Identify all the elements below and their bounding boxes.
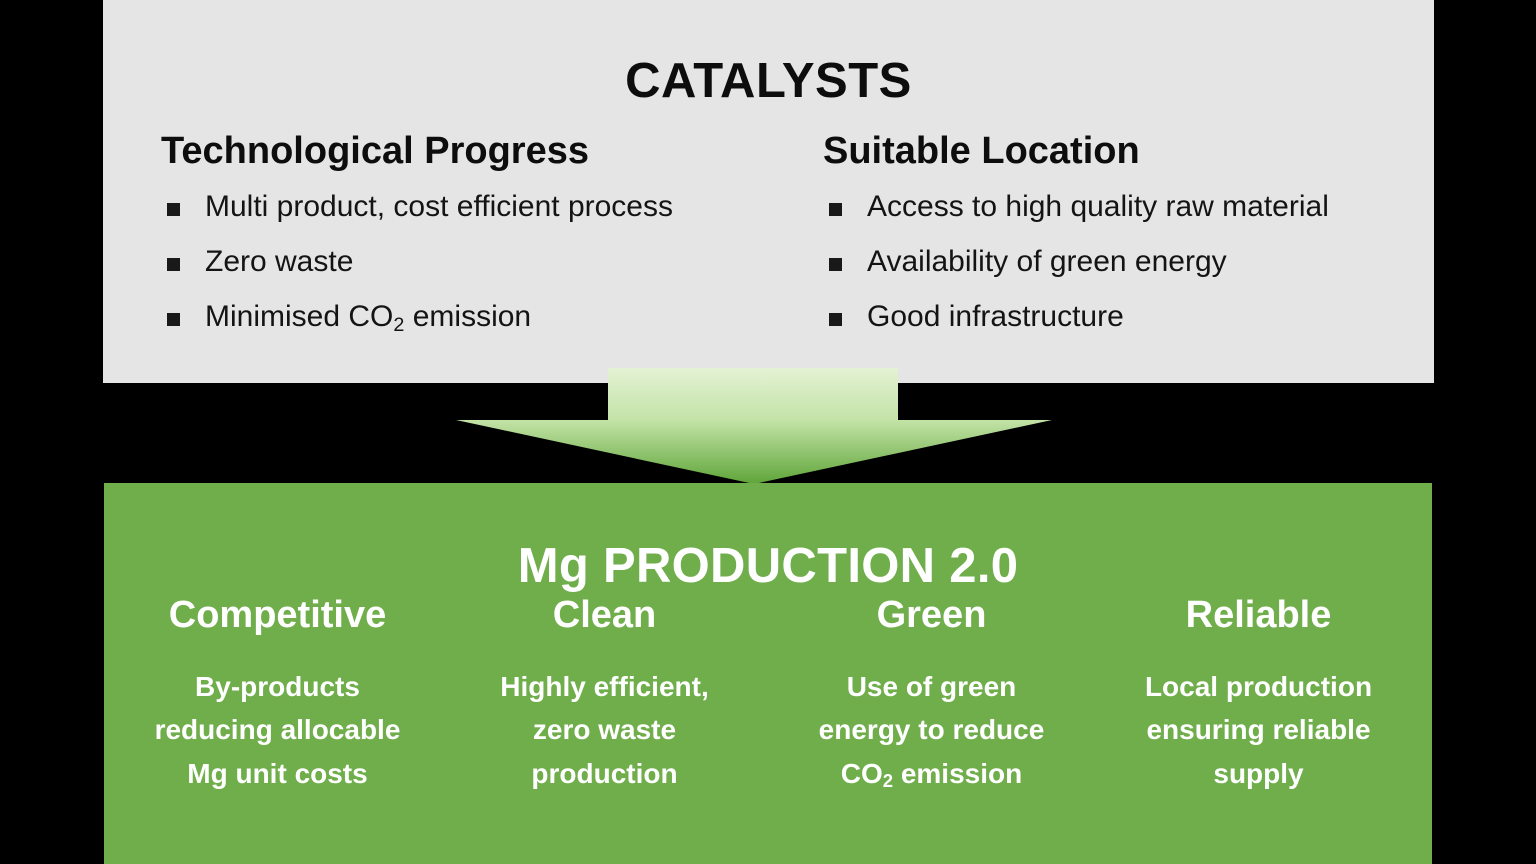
pillar-clean: Clean Highly efficient,zero wasteproduct… bbox=[441, 595, 768, 795]
list-item: Minimised CO2 emission bbox=[161, 302, 821, 332]
down-arrow-icon bbox=[456, 368, 1052, 484]
list-item: Zero waste bbox=[161, 247, 821, 277]
production-panel: Mg PRODUCTION 2.0 Competitive By-product… bbox=[104, 483, 1432, 864]
list-item-label: Good infrastructure bbox=[867, 300, 1124, 333]
catalysts-column-technological-progress: Technological Progress Multi product, co… bbox=[161, 130, 821, 357]
pillar-title: Green bbox=[778, 595, 1085, 637]
list-item: Availability of green energy bbox=[823, 247, 1423, 277]
list-item-label: Zero waste bbox=[205, 245, 353, 278]
square-bullet-icon bbox=[829, 313, 842, 326]
pillar-title: Clean bbox=[451, 595, 758, 637]
square-bullet-icon bbox=[167, 258, 180, 271]
pillar-title: Competitive bbox=[124, 595, 431, 637]
pillar-competitive: Competitive By-productsreducing allocabl… bbox=[114, 595, 441, 795]
square-bullet-icon bbox=[167, 313, 180, 326]
bullet-list: Access to high quality raw material Avai… bbox=[823, 192, 1423, 332]
pillar-body: Local productionensuring reliablesupply bbox=[1105, 665, 1412, 795]
square-bullet-icon bbox=[829, 258, 842, 271]
pillars-row: Competitive By-productsreducing allocabl… bbox=[114, 595, 1422, 795]
bullet-list: Multi product, cost efficient process Ze… bbox=[161, 192, 821, 332]
pillar-body: Use of greenenergy to reduceCO2 emission bbox=[778, 665, 1085, 795]
pillar-reliable: Reliable Local productionensuring reliab… bbox=[1095, 595, 1422, 795]
list-item-label: Availability of green energy bbox=[867, 245, 1227, 278]
square-bullet-icon bbox=[167, 203, 180, 216]
list-item: Multi product, cost efficient process bbox=[161, 192, 821, 222]
list-item-label: Access to high quality raw material bbox=[867, 190, 1329, 223]
list-item-label: Minimised CO2 emission bbox=[205, 300, 531, 333]
list-item-label: Multi product, cost efficient process bbox=[205, 190, 673, 223]
pillar-title: Reliable bbox=[1105, 595, 1412, 637]
column-heading: Suitable Location bbox=[823, 130, 1423, 174]
catalysts-panel: CATALYSTS Technological Progress Multi p… bbox=[103, 0, 1434, 383]
list-item: Access to high quality raw material bbox=[823, 192, 1423, 222]
pillar-body: By-productsreducing allocableMg unit cos… bbox=[124, 665, 431, 795]
square-bullet-icon bbox=[829, 203, 842, 216]
list-item: Good infrastructure bbox=[823, 302, 1423, 332]
catalysts-column-suitable-location: Suitable Location Access to high quality… bbox=[823, 130, 1423, 357]
column-heading: Technological Progress bbox=[161, 130, 821, 174]
pillar-green: Green Use of greenenergy to reduceCO2 em… bbox=[768, 595, 1095, 795]
production-title: Mg PRODUCTION 2.0 bbox=[104, 538, 1432, 594]
catalysts-title: CATALYSTS bbox=[103, 55, 1434, 109]
pillar-body: Highly efficient,zero wasteproduction bbox=[451, 665, 758, 795]
